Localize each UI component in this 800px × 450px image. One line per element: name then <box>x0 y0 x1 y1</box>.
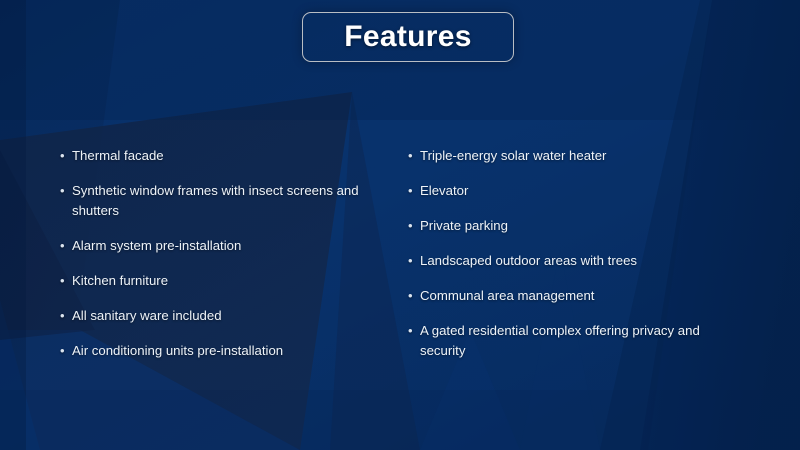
list-item-label: Kitchen furniture <box>72 271 372 291</box>
bullet-icon: • <box>408 181 420 201</box>
list-item: • Private parking <box>408 216 782 236</box>
list-item-label: A gated residential complex offering pri… <box>420 321 722 362</box>
features-column-right: • Triple-energy solar water heater • Ele… <box>400 146 800 376</box>
bullet-icon: • <box>60 306 72 326</box>
bullet-icon: • <box>60 181 72 201</box>
list-item: • Elevator <box>408 181 782 201</box>
list-item: • Synthetic window frames with insect sc… <box>60 181 382 222</box>
list-item-label: Air conditioning units pre-installation <box>72 341 372 361</box>
list-item-label: Elevator <box>420 181 722 201</box>
list-item: • Kitchen furniture <box>60 271 382 291</box>
list-item-label: Triple-energy solar water heater <box>420 146 722 166</box>
list-item: • A gated residential complex offering p… <box>408 321 782 362</box>
feature-list-left: • Thermal facade • Synthetic window fram… <box>60 146 382 362</box>
bullet-icon: • <box>408 251 420 271</box>
bullet-icon: • <box>408 216 420 236</box>
bullet-icon: • <box>60 271 72 291</box>
list-item-label: Communal area management <box>420 286 722 306</box>
slide-title-box: Features <box>302 12 514 62</box>
bullet-icon: • <box>60 236 72 256</box>
feature-list-right: • Triple-energy solar water heater • Ele… <box>408 146 782 362</box>
list-item: • Air conditioning units pre-installatio… <box>60 341 382 361</box>
features-column-left: • Thermal facade • Synthetic window fram… <box>0 146 400 376</box>
bullet-icon: • <box>408 146 420 166</box>
list-item: • Landscaped outdoor areas with trees <box>408 251 782 271</box>
list-item-label: Private parking <box>420 216 722 236</box>
list-item-label: All sanitary ware included <box>72 306 372 326</box>
list-item: • Communal area management <box>408 286 782 306</box>
list-item-label: Landscaped outdoor areas with trees <box>420 251 722 271</box>
list-item-label: Alarm system pre-installation <box>72 236 372 256</box>
list-item: • Triple-energy solar water heater <box>408 146 782 166</box>
bullet-icon: • <box>60 146 72 166</box>
bullet-icon: • <box>408 321 420 341</box>
list-item-label: Synthetic window frames with insect scre… <box>72 181 372 222</box>
list-item-label: Thermal facade <box>72 146 372 166</box>
slide-canvas: Features • Thermal facade • Synthetic wi… <box>0 0 800 450</box>
list-item: • All sanitary ware included <box>60 306 382 326</box>
list-item: • Thermal facade <box>60 146 382 166</box>
bullet-icon: • <box>408 286 420 306</box>
page-title: Features <box>344 20 471 54</box>
list-item: • Alarm system pre-installation <box>60 236 382 256</box>
features-columns: • Thermal facade • Synthetic window fram… <box>0 146 800 376</box>
bullet-icon: • <box>60 341 72 361</box>
